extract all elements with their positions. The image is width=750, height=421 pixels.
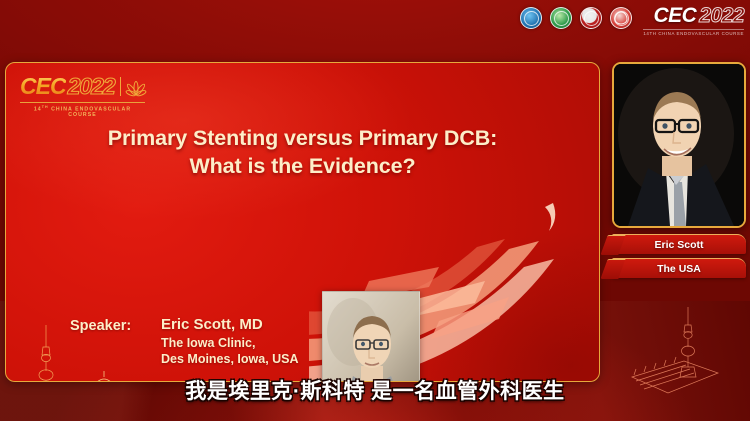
nameplate-speaker-name[interactable]: Eric Scott (612, 234, 746, 254)
slide-logo-year-text: 2022 (68, 73, 115, 100)
subtitle-overlay: 我是埃里克·斯科特 是一名血管外科医生 (0, 373, 750, 407)
lotus-icon (126, 77, 146, 96)
slide-logo-cec-text: CEC (20, 73, 66, 100)
header-logo-year-text: 2022 (699, 4, 744, 28)
slide-logo-divider (120, 77, 121, 96)
slide-logo-tagline: 14TH CHINA ENDOVASCULAR COURSE (20, 102, 145, 118)
presentation-slide-panel[interactable]: CEC 2022 14TH CHINA ENDOVASCULAR COURSE … (5, 62, 600, 382)
live-video-panel[interactable] (612, 62, 746, 228)
society-emblem-blue-icon (520, 7, 542, 29)
society-emblem-lotus-icon (610, 7, 632, 29)
slide-title-line-1: Primary Stenting versus Primary DCB: (46, 125, 559, 153)
top-header-bar: CEC 2022 14TH CHINA ENDOVASCULAR COURSE (0, 0, 750, 40)
header-logo-tagline: 14TH CHINA ENDOVASCULAR COURSE (643, 29, 744, 36)
header-cec-logo: CEC 2022 14TH CHINA ENDOVASCULAR COURSE (643, 4, 744, 36)
speaker-label: Speaker: (70, 318, 131, 334)
nameplate-group: Eric Scott The USA (612, 234, 746, 282)
conference-stream-view: CEC 2022 14TH CHINA ENDOVASCULAR COURSE (0, 0, 750, 421)
video-feed (614, 64, 744, 226)
speaker-info-block: Eric Scott, MD The Iowa Clinic, Des Moin… (161, 315, 299, 368)
nameplate-speaker-country[interactable]: The USA (612, 258, 746, 278)
speaker-affiliation-line-2: Des Moines, Iowa, USA (161, 351, 299, 368)
society-emblems-group (520, 7, 632, 29)
header-logo-cec-text: CEC (653, 4, 696, 28)
speaker-headshot-photo (322, 291, 420, 382)
society-emblem-red-icon (580, 7, 602, 29)
slide-title: Primary Stenting versus Primary DCB: Wha… (6, 125, 599, 180)
slide-title-line-2: What is the Evidence? (46, 153, 559, 181)
speaker-affiliation-line-1: The Iowa Clinic, (161, 335, 299, 352)
slide-cec-logo: CEC 2022 14TH CHINA ENDOVASCULAR COURSE (20, 73, 146, 118)
subtitle-text: 我是埃里克·斯科特 是一名血管外科医生 (175, 373, 574, 407)
speaker-name: Eric Scott, MD (161, 315, 299, 335)
society-emblem-green-icon (550, 7, 572, 29)
